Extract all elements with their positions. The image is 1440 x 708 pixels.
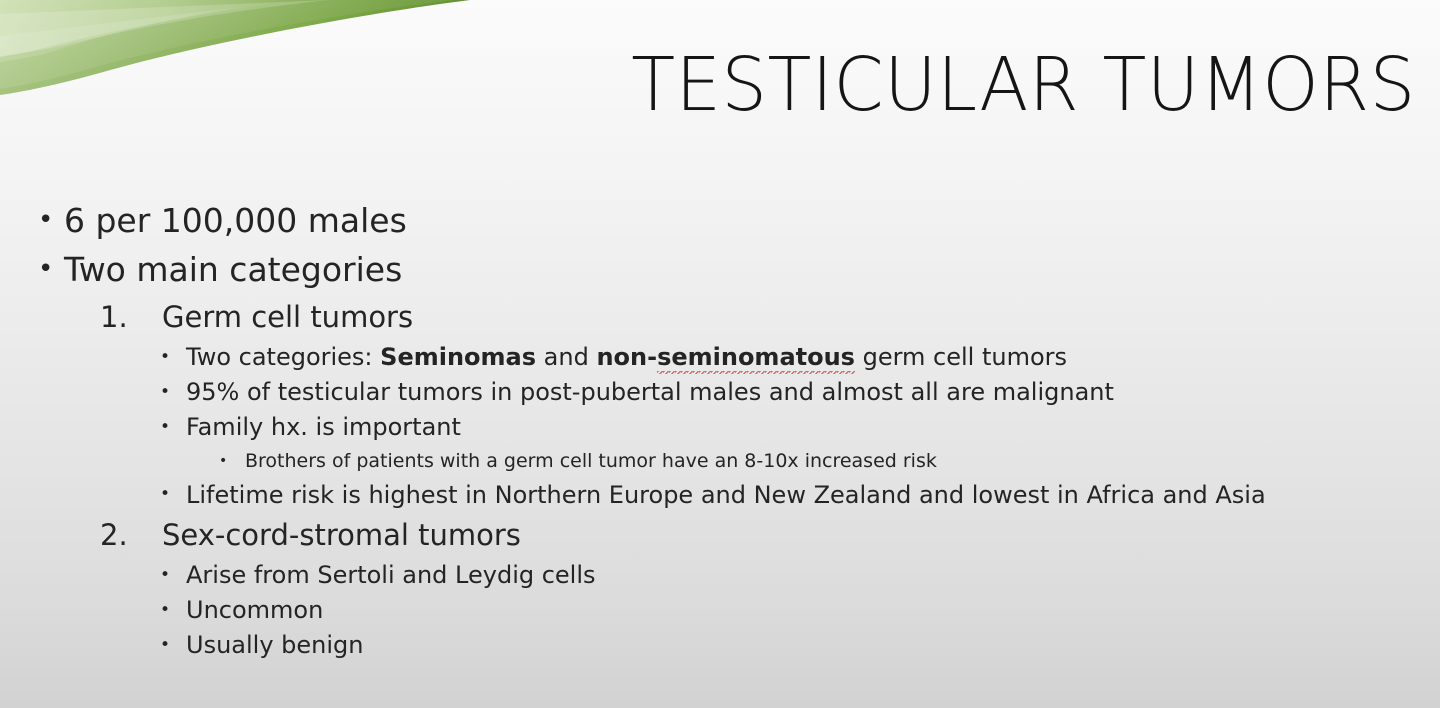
- bullet-text: Two categories: Seminomas and non-semino…: [186, 340, 1440, 375]
- bullet-icon: •: [160, 375, 186, 410]
- list-item-numbered: 1. Germ cell tumors: [0, 294, 1440, 340]
- bullet-icon: •: [160, 628, 186, 663]
- bullet-text: Usually benign: [186, 628, 1440, 663]
- emphasis-seminomas: Seminomas: [380, 343, 536, 371]
- text-fragment: and: [536, 343, 596, 371]
- list-item: • Family hx. is important: [0, 410, 1440, 445]
- slide-body: • 6 per 100,000 males • Two main categor…: [0, 196, 1440, 663]
- numbered-list: 1. Germ cell tumors • Two categories: Se…: [0, 294, 1440, 663]
- bullet-icon: •: [160, 477, 186, 512]
- list-item-label: Sex-cord-stromal tumors: [162, 512, 1440, 558]
- list-item: • Two categories: Seminomas and non-semi…: [0, 340, 1440, 375]
- bullet-text: Lifetime risk is highest in Northern Eur…: [186, 477, 1426, 512]
- list-item: • Two main categories: [0, 245, 1440, 294]
- bullet-icon: •: [38, 245, 64, 294]
- text-fragment: Two categories:: [186, 343, 380, 371]
- bullet-text: Two main categories: [64, 245, 1440, 294]
- bullet-text: Family hx. is important: [186, 410, 1440, 445]
- list-item: • Brothers of patients with a germ cell …: [0, 445, 1440, 477]
- bullet-icon: •: [160, 340, 186, 375]
- list-item: • Uncommon: [0, 593, 1440, 628]
- bullet-text: Arise from Sertoli and Leydig cells: [186, 558, 1440, 593]
- list-item: • 95% of testicular tumors in post-puber…: [0, 375, 1440, 410]
- emphasis-non-prefix: non-: [596, 343, 657, 371]
- bullet-list-level1: • 6 per 100,000 males • Two main categor…: [0, 196, 1440, 294]
- text-fragment: germ cell tumors: [855, 343, 1067, 371]
- bullet-icon: •: [160, 410, 186, 445]
- list-item-label: Germ cell tumors: [162, 294, 1440, 340]
- list-number: 2.: [100, 512, 162, 558]
- list-item: • Lifetime risk is highest in Northern E…: [0, 477, 1440, 512]
- spellcheck-underlined-word: seminomatous: [657, 343, 855, 374]
- list-item-numbered: 2. Sex-cord-stromal tumors: [0, 512, 1440, 558]
- bullet-text: Brothers of patients with a germ cell tu…: [245, 445, 1440, 477]
- bullet-icon: •: [219, 445, 245, 477]
- bullet-text: 95% of testicular tumors in post-puberta…: [186, 375, 1440, 410]
- slide-title: TESTICULAR TUMORS: [632, 48, 1416, 122]
- bullet-text: 6 per 100,000 males: [64, 196, 1440, 245]
- bullet-icon: •: [160, 558, 186, 593]
- green-swoosh-decoration: [0, 0, 520, 120]
- slide: TESTICULAR TUMORS • 6 per 100,000 males …: [0, 0, 1440, 708]
- list-number: 1.: [100, 294, 162, 340]
- bullet-icon: •: [160, 593, 186, 628]
- bullet-icon: •: [38, 196, 64, 245]
- list-item: • Usually benign: [0, 628, 1440, 663]
- list-item: • Arise from Sertoli and Leydig cells: [0, 558, 1440, 593]
- bullet-text: Uncommon: [186, 593, 1440, 628]
- list-item: • 6 per 100,000 males: [0, 196, 1440, 245]
